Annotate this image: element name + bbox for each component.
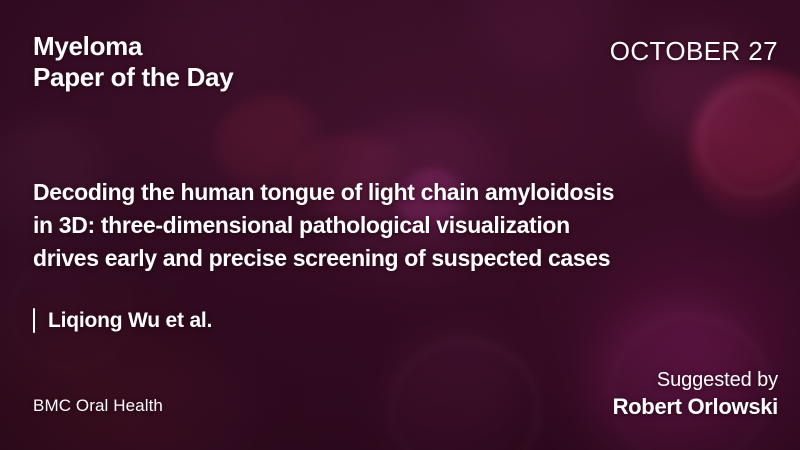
- suggested-by: Suggested by Robert Orlowski: [613, 368, 778, 420]
- kicker-line-2: Paper of the Day: [33, 62, 233, 93]
- kicker-line-1: Myeloma: [33, 31, 233, 62]
- suggested-by-person: Robert Orlowski: [613, 393, 778, 420]
- date-label: OCTOBER 27: [610, 36, 778, 67]
- authors-label: Liqiong Wu et al.: [48, 309, 212, 333]
- paper-title-line-2: in 3D: three-dimensional pathological vi…: [33, 209, 733, 242]
- paper-of-the-day-card: Myeloma Paper of the Day OCTOBER 27 Deco…: [0, 0, 800, 450]
- journal-name: BMC Oral Health: [33, 396, 163, 416]
- paper-title: Decoding the human tongue of light chain…: [33, 176, 733, 275]
- card-content: Myeloma Paper of the Day OCTOBER 27 Deco…: [0, 0, 800, 450]
- authors-rule: [33, 308, 35, 333]
- paper-authors: Liqiong Wu et al.: [33, 308, 212, 333]
- suggested-by-label: Suggested by: [613, 368, 778, 393]
- paper-title-line-3: drives early and precise screening of su…: [33, 242, 733, 275]
- brand-kicker: Myeloma Paper of the Day: [33, 31, 233, 93]
- paper-title-line-1: Decoding the human tongue of light chain…: [33, 176, 733, 209]
